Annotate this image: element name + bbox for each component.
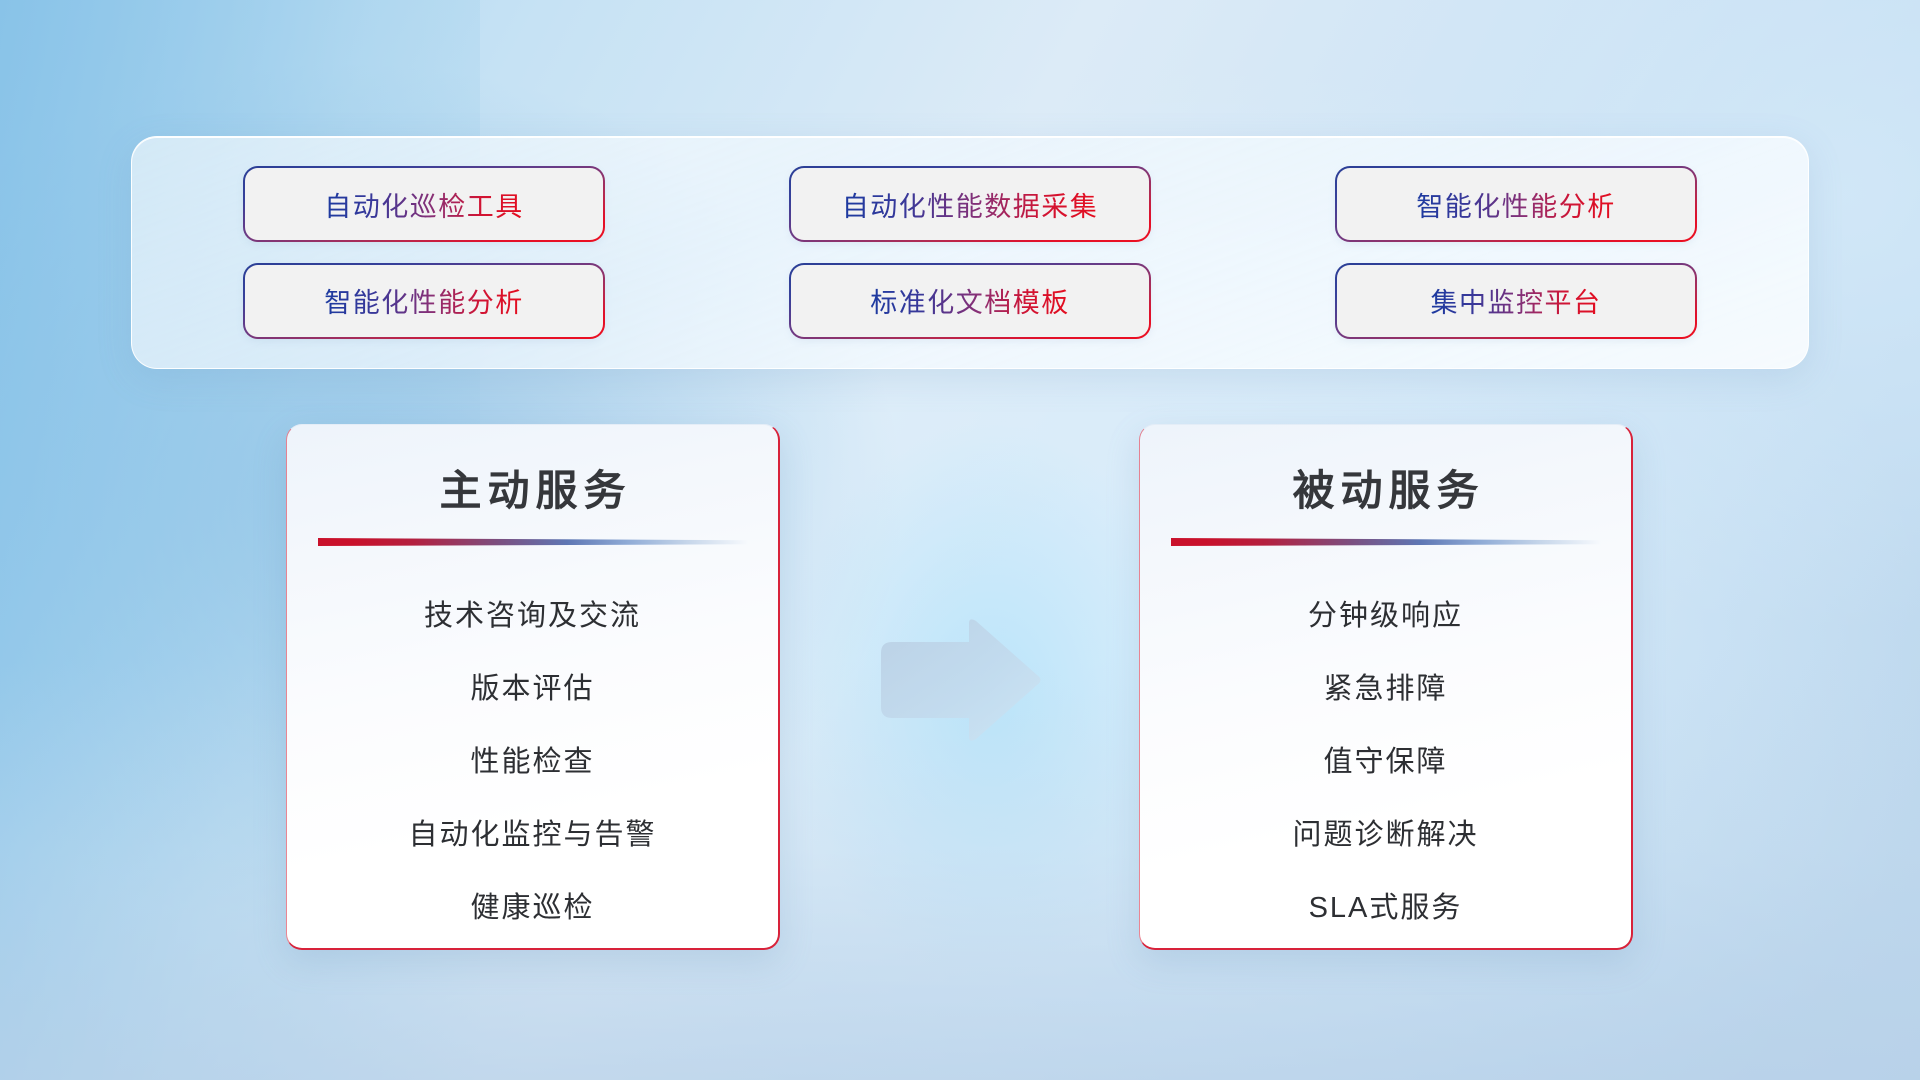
card-divider-bar <box>1171 538 1601 546</box>
list-item: 健康巡检 <box>470 872 594 945</box>
tool-pill-label: 自动化巡检工具 <box>324 185 524 224</box>
list-item: SLA式服务 <box>1309 872 1463 945</box>
list-item: 紧急排障 <box>1323 653 1447 726</box>
tool-pill-5[interactable]: 标准化文档模板 <box>791 265 1149 337</box>
list-item: 技术咨询及交流 <box>424 580 641 653</box>
tools-panel: 自动化巡检工具 自动化性能数据采集 智能化性能分析 智能化性能分析 标准化文档模… <box>131 136 1809 369</box>
slide-canvas: 自动化巡检工具 自动化性能数据采集 智能化性能分析 智能化性能分析 标准化文档模… <box>0 0 1920 1080</box>
card-list: 技术咨询及交流 版本评估 性能检查 自动化监控与告警 健康巡检 <box>287 580 778 945</box>
tool-pill-6[interactable]: 集中监控平台 <box>1337 265 1695 337</box>
list-item: 值守保障 <box>1323 726 1447 799</box>
service-card-active: 主动服务 技术咨询及交流 版本评估 性能检查 自动化监控与告警 健康巡检 <box>286 424 780 950</box>
tool-pill-label: 集中监控平台 <box>1431 281 1602 320</box>
tool-pill-label: 标准化文档模板 <box>870 281 1070 320</box>
service-card-passive: 被动服务 分钟级响应 紧急排障 值守保障 问题诊断解决 SLA式服务 <box>1139 424 1633 950</box>
tool-pill-2[interactable]: 自动化性能数据采集 <box>791 168 1149 240</box>
tool-pill-3[interactable]: 智能化性能分析 <box>1337 168 1695 240</box>
arrow-right-icon <box>877 617 1043 743</box>
tool-pill-4[interactable]: 智能化性能分析 <box>245 265 603 337</box>
tool-pill-1[interactable]: 自动化巡检工具 <box>245 168 603 240</box>
list-item: 分钟级响应 <box>1308 580 1463 653</box>
card-divider <box>318 536 748 550</box>
card-list: 分钟级响应 紧急排障 值守保障 问题诊断解决 SLA式服务 <box>1140 580 1631 945</box>
list-item: 性能检查 <box>470 726 594 799</box>
tool-pill-label: 智能化性能分析 <box>1416 185 1616 224</box>
list-item: 版本评估 <box>470 653 594 726</box>
tool-pill-label: 自动化性能数据采集 <box>842 185 1099 224</box>
list-item: 问题诊断解决 <box>1292 799 1478 872</box>
card-title: 主动服务 <box>433 457 631 518</box>
card-divider-bar <box>318 538 748 546</box>
card-divider <box>1171 536 1601 550</box>
tool-pill-label: 智能化性能分析 <box>324 281 524 320</box>
list-item: 自动化监控与告警 <box>408 799 656 872</box>
card-title: 被动服务 <box>1286 457 1484 518</box>
